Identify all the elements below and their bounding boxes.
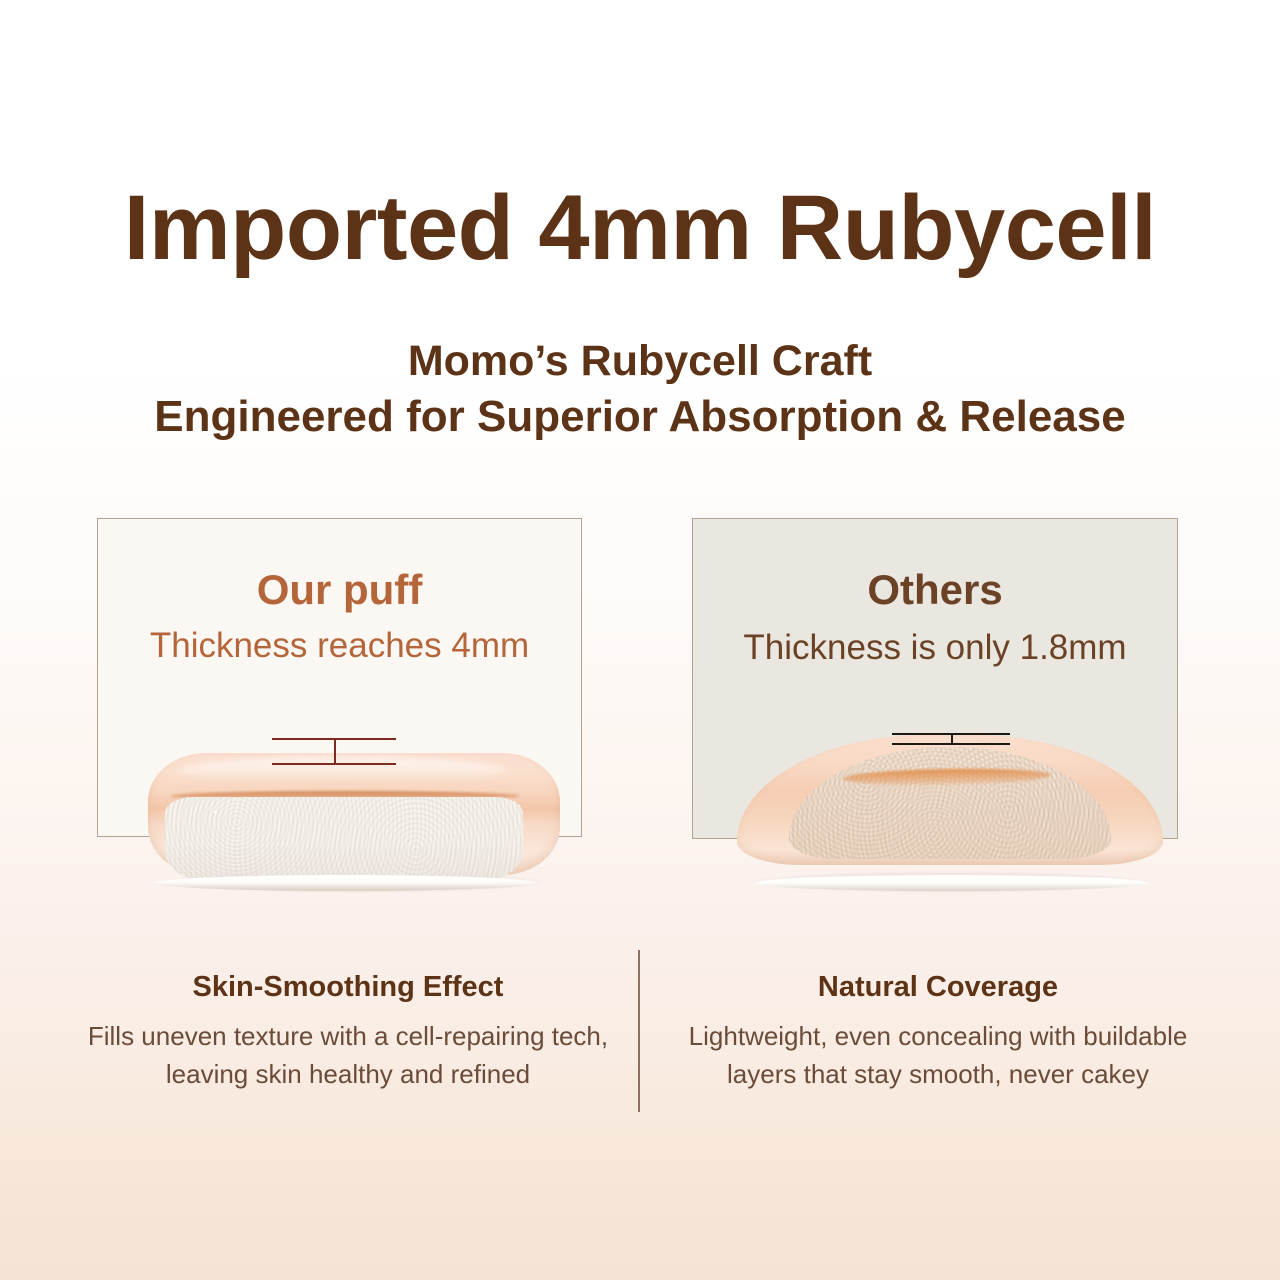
puff-base-edge	[755, 875, 1147, 891]
page-subtitle: Momo’s Rubycell Craft Engineered for Sup…	[0, 333, 1280, 445]
puff-base-edge	[154, 875, 536, 891]
puff-shadow	[166, 871, 544, 893]
feature-title: Skin-Smoothing Effect	[78, 970, 618, 1005]
feature-block-natural-coverage: Natural Coverage Lightweight, even conce…	[658, 970, 1218, 1093]
panel-heading-our-puff: Our puff	[98, 567, 581, 613]
comparison-panel-our-puff: Our puff Thickness reaches 4mm	[97, 518, 582, 837]
caliper-bottom-bar	[272, 763, 396, 765]
subtitle-line-2: Engineered for Superior Absorption & Rel…	[0, 389, 1280, 445]
panel-subheading-our-puff: Thickness reaches 4mm	[98, 627, 581, 666]
infographic-page: Imported 4mm Rubycell Momo’s Rubycell Cr…	[0, 0, 1280, 1280]
panel-heading-others: Others	[693, 567, 1177, 613]
caliper-bottom-bar	[892, 743, 1010, 745]
feature-description: Fills uneven texture with a cell-repairi…	[78, 1017, 618, 1093]
feature-block-skin-smoothing: Skin-Smoothing Effect Fills uneven textu…	[78, 970, 618, 1093]
comparison-panel-others: Others Thickness is only 1.8mm	[692, 518, 1178, 839]
feature-title: Natural Coverage	[658, 970, 1218, 1005]
panel-subheading-others: Thickness is only 1.8mm	[693, 629, 1177, 668]
feature-description: Lightweight, even concealing with builda…	[658, 1017, 1218, 1093]
caliper-stem	[334, 738, 336, 765]
feature-section: Skin-Smoothing Effect Fills uneven textu…	[0, 970, 1280, 1130]
thickness-caliper-others	[892, 733, 1010, 745]
thickness-caliper-our-puff	[272, 738, 396, 765]
page-title: Imported 4mm Rubycell	[0, 182, 1280, 274]
subtitle-line-1: Momo’s Rubycell Craft	[0, 333, 1280, 389]
puff-shadow	[753, 871, 1148, 893]
